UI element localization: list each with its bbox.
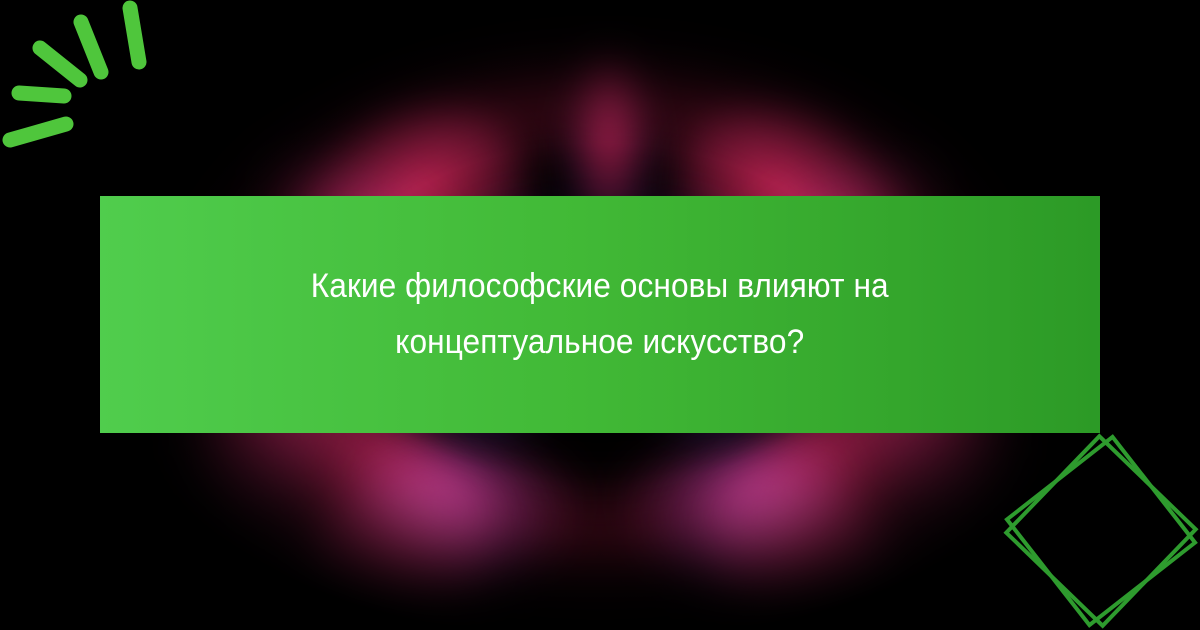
headline-banner: Какие философские основы влияют на конце… bbox=[100, 196, 1100, 433]
page-title: Какие философские основы влияют на конце… bbox=[311, 259, 889, 369]
social-card: Какие философские основы влияют на конце… bbox=[0, 0, 1200, 630]
